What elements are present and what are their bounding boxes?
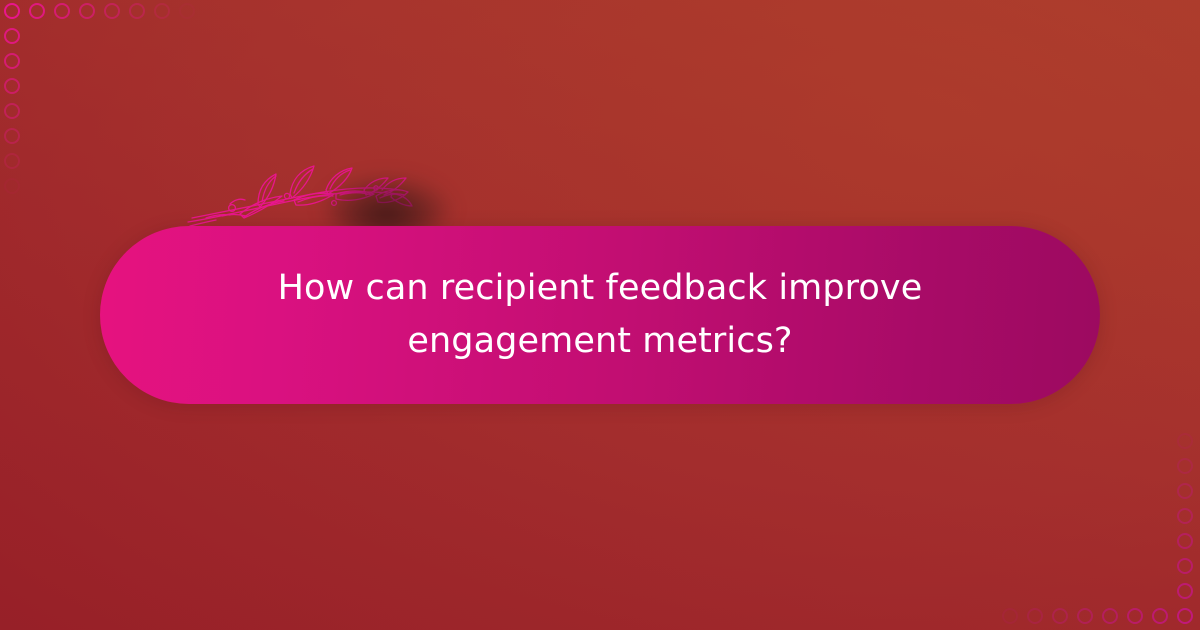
poster-canvas: How can recipient feedback improve engag… bbox=[0, 0, 1200, 630]
question-card: How can recipient feedback improve engag… bbox=[100, 226, 1100, 404]
question-text: How can recipient feedback improve engag… bbox=[210, 262, 990, 368]
